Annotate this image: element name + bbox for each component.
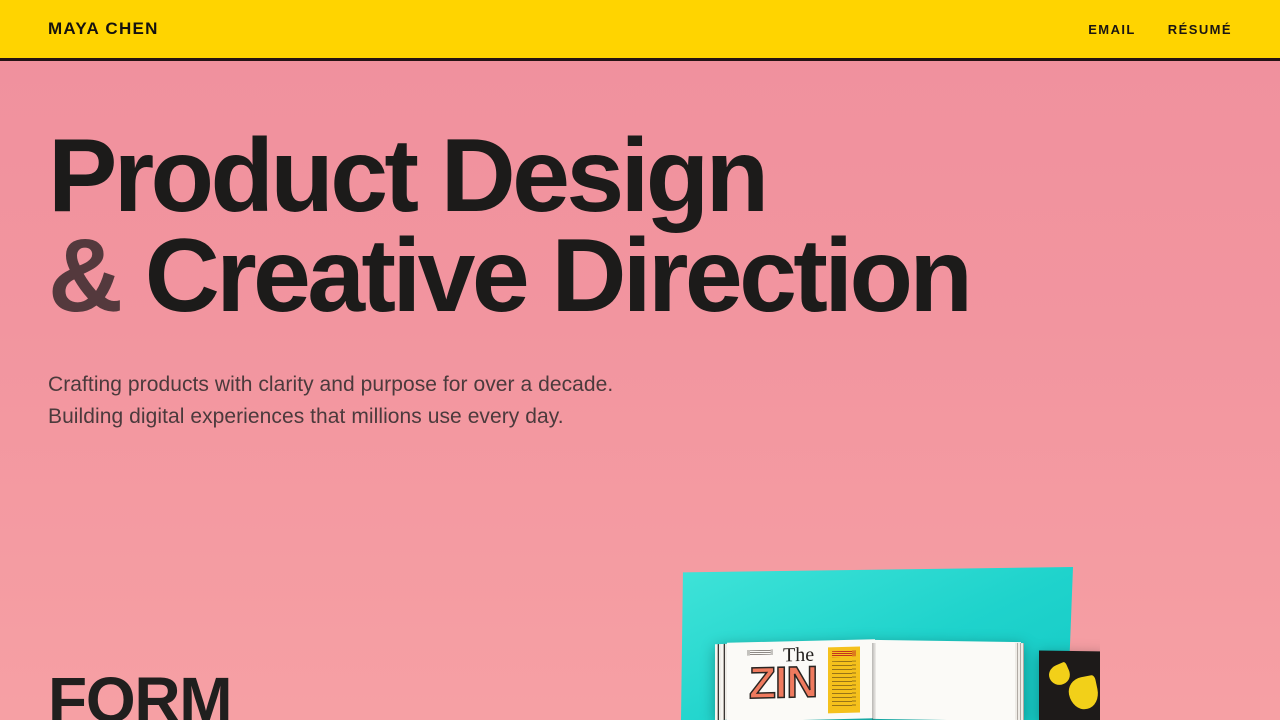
hero-subtitle-line-2: Building digital experiences that millio…: [48, 401, 969, 433]
headline-line-2: & Creative Direction: [48, 227, 969, 327]
sidebar-heading-lines: [832, 651, 856, 658]
magazine-page-edge-right: [1015, 643, 1024, 720]
yellow-teardrop-small-icon: [1046, 661, 1073, 688]
headline-line-1: Product Design: [48, 127, 969, 227]
magazine-spine: [872, 643, 876, 720]
page-title: Product Design & Creative Direction: [48, 127, 969, 327]
hero-subtitle: Crafting products with clarity and purpo…: [48, 369, 969, 433]
left-page-yellow-sidebar: [828, 647, 860, 714]
headline-ampersand: &: [48, 218, 119, 334]
magazine-right-page: [873, 640, 1021, 720]
brand-wordmark[interactable]: MAYA CHEN: [48, 19, 159, 39]
open-magazine-photo: The ZIN: [660, 555, 1100, 720]
left-page-kicker-text: [747, 650, 773, 656]
sidebar-body-lines: [832, 661, 856, 708]
hero-section: Product Design & Creative Direction Craf…: [48, 61, 969, 432]
nav-links: EMAIL RÉSUMÉ: [1088, 22, 1232, 37]
yellow-teardrop-large-icon: [1066, 675, 1100, 712]
section-heading-form: FORM: [48, 668, 231, 720]
top-navigation-bar: MAYA CHEN EMAIL RÉSUMÉ: [0, 0, 1280, 61]
nav-link-email[interactable]: EMAIL: [1088, 22, 1136, 37]
hero-subtitle-line-1: Crafting products with clarity and purpo…: [48, 369, 969, 401]
open-magazine: The ZIN: [715, 641, 1020, 720]
nav-link-resume[interactable]: RÉSUMÉ: [1168, 22, 1232, 37]
magazine-left-page: The ZIN: [727, 639, 875, 720]
headline-line-2-rest: Creative Direction: [119, 218, 969, 334]
page-root: MAYA CHEN EMAIL RÉSUMÉ Product Design & …: [0, 0, 1280, 720]
right-page-dark-panel: [1039, 650, 1100, 720]
left-page-display-word: ZIN: [749, 661, 817, 707]
